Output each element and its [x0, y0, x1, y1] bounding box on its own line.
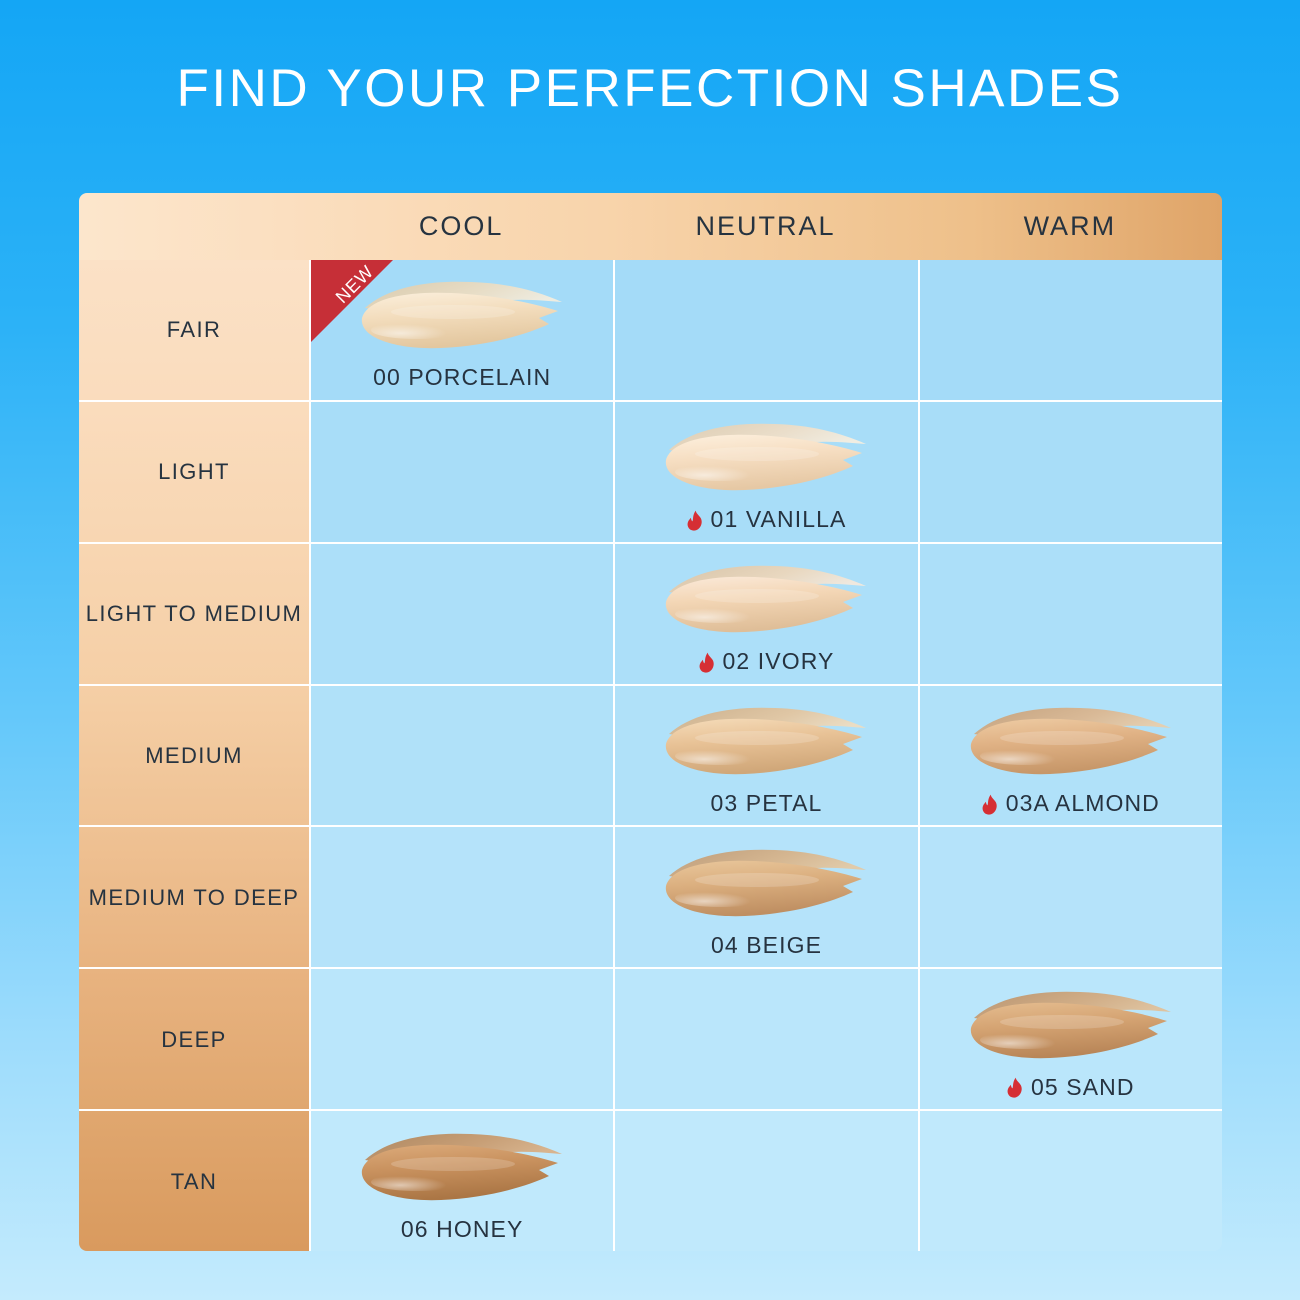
shade-cell-tan-cool[interactable]: 06 HONEY: [309, 1111, 613, 1251]
flame-icon-glyph: [982, 794, 999, 816]
shade-name-label: 03 PETAL: [711, 790, 823, 817]
shade-swatch-group[interactable]: 04 BEIGE: [657, 842, 875, 959]
shade-name-label: 04 BEIGE: [711, 932, 822, 959]
shade-cell-light-to-medium-neutral[interactable]: 02 IVORY: [613, 544, 917, 684]
foundation-swatch[interactable]: [657, 558, 875, 636]
row-label-light: LIGHT: [79, 402, 309, 542]
shade-cell-medium-warm[interactable]: 03A ALMOND: [918, 686, 1222, 826]
foundation-swatch-shape: [962, 984, 1180, 1062]
shade-name-text: 03 PETAL: [711, 790, 823, 817]
column-header-neutral: NEUTRAL: [613, 193, 917, 260]
table-row: LIGHT 01 VANILLA: [79, 400, 1222, 542]
shade-name-text: 02 IVORY: [723, 648, 835, 675]
foundation-swatch[interactable]: [353, 1126, 571, 1204]
table-row: MEDIUM TO DEEP 04 BEIGE: [79, 825, 1222, 967]
shade-cell-light-to-medium-cool: [309, 544, 613, 684]
table-header-row: COOLNEUTRALWARM: [79, 193, 1222, 260]
shade-name-text: 00 PORCELAIN: [373, 364, 551, 391]
shade-swatch-group[interactable]: 03 PETAL: [657, 700, 875, 817]
table-body: FAIRNEW 00 PORCELAINLIGHT: [79, 260, 1222, 1251]
flame-icon: [982, 794, 999, 816]
page-title: FIND YOUR PERFECTION SHADES: [0, 62, 1300, 115]
shade-cell-medium-to-deep-warm: [918, 827, 1222, 967]
shade-name-text: 04 BEIGE: [711, 932, 822, 959]
shade-swatch-group[interactable]: 01 VANILLA: [657, 416, 875, 533]
shade-cell-medium-to-deep-neutral[interactable]: 04 BEIGE: [613, 827, 917, 967]
shade-name-text: 03A ALMOND: [1006, 790, 1160, 817]
shade-cell-medium-neutral[interactable]: 03 PETAL: [613, 686, 917, 826]
foundation-swatch-shape: [657, 416, 875, 494]
shade-swatch-group[interactable]: 00 PORCELAIN: [353, 274, 571, 391]
shade-cell-light-to-medium-warm: [918, 544, 1222, 684]
shade-cell-light-neutral[interactable]: 01 VANILLA: [613, 402, 917, 542]
foundation-swatch-shape: [657, 842, 875, 920]
shade-name-label: 03A ALMOND: [982, 790, 1160, 817]
foundation-swatch[interactable]: [657, 700, 875, 778]
shade-cell-fair-cool[interactable]: NEW 00 PORCELAIN: [309, 260, 613, 400]
flame-icon: [1007, 1077, 1024, 1099]
shade-cell-medium-to-deep-cool: [309, 827, 613, 967]
foundation-swatch-shape: [657, 558, 875, 636]
foundation-swatch[interactable]: [353, 274, 571, 352]
shade-swatch-group[interactable]: 05 SAND: [962, 984, 1180, 1101]
foundation-swatch[interactable]: [962, 984, 1180, 1062]
column-header-warm: WARM: [918, 193, 1222, 260]
flame-icon-glyph: [699, 652, 716, 674]
foundation-swatch[interactable]: [657, 842, 875, 920]
column-header-cool: COOL: [309, 193, 613, 260]
shade-name-label: 02 IVORY: [699, 648, 835, 675]
table-row: LIGHT TO MEDIUM 02 IVOR: [79, 542, 1222, 684]
shade-chart-table: COOLNEUTRALWARM FAIRNEW 00 PORCEL: [79, 193, 1222, 1251]
table-row: TAN 06 HONEY: [79, 1109, 1222, 1251]
shade-name-label: 00 PORCELAIN: [373, 364, 551, 391]
shade-cell-deep-cool: [309, 969, 613, 1109]
shade-cell-tan-neutral: [613, 1111, 917, 1251]
row-label-tan: TAN: [79, 1111, 309, 1251]
shade-cell-fair-warm: [918, 260, 1222, 400]
shade-cell-deep-neutral: [613, 969, 917, 1109]
foundation-swatch-shape: [962, 700, 1180, 778]
row-label-light-to-medium: LIGHT TO MEDIUM: [79, 544, 309, 684]
shade-swatch-group[interactable]: 02 IVORY: [657, 558, 875, 675]
shade-cell-tan-warm: [918, 1111, 1222, 1251]
table-row: FAIRNEW 00 PORCELAIN: [79, 260, 1222, 400]
foundation-swatch-shape: [353, 274, 571, 352]
shade-cell-medium-cool: [309, 686, 613, 826]
row-label-fair: FAIR: [79, 260, 309, 400]
shade-swatch-group[interactable]: 06 HONEY: [353, 1126, 571, 1243]
foundation-swatch-shape: [353, 1126, 571, 1204]
row-label-deep: DEEP: [79, 969, 309, 1109]
flame-icon-glyph: [1007, 1077, 1024, 1099]
flame-icon: [687, 510, 704, 532]
shade-name-label: 05 SAND: [1007, 1074, 1135, 1101]
foundation-swatch-shape: [657, 700, 875, 778]
row-label-medium-to-deep: MEDIUM TO DEEP: [79, 827, 309, 967]
row-label-medium: MEDIUM: [79, 686, 309, 826]
table-row: DEEP 05 SAND: [79, 967, 1222, 1109]
table-row: MEDIUM 03 PETAL: [79, 684, 1222, 826]
flame-icon-glyph: [687, 510, 704, 532]
shade-cell-light-cool: [309, 402, 613, 542]
shade-name-text: 06 HONEY: [401, 1216, 524, 1243]
header-corner-cell: [79, 193, 309, 260]
flame-icon: [699, 652, 716, 674]
shade-name-label: 01 VANILLA: [687, 506, 847, 533]
shade-cell-fair-neutral: [613, 260, 917, 400]
shade-name-text: 01 VANILLA: [711, 506, 847, 533]
shade-cell-light-warm: [918, 402, 1222, 542]
shade-swatch-group[interactable]: 03A ALMOND: [962, 700, 1180, 817]
shade-name-label: 06 HONEY: [401, 1216, 524, 1243]
shade-name-text: 05 SAND: [1031, 1074, 1135, 1101]
shade-cell-deep-warm[interactable]: 05 SAND: [918, 969, 1222, 1109]
foundation-swatch[interactable]: [657, 416, 875, 494]
foundation-swatch[interactable]: [962, 700, 1180, 778]
